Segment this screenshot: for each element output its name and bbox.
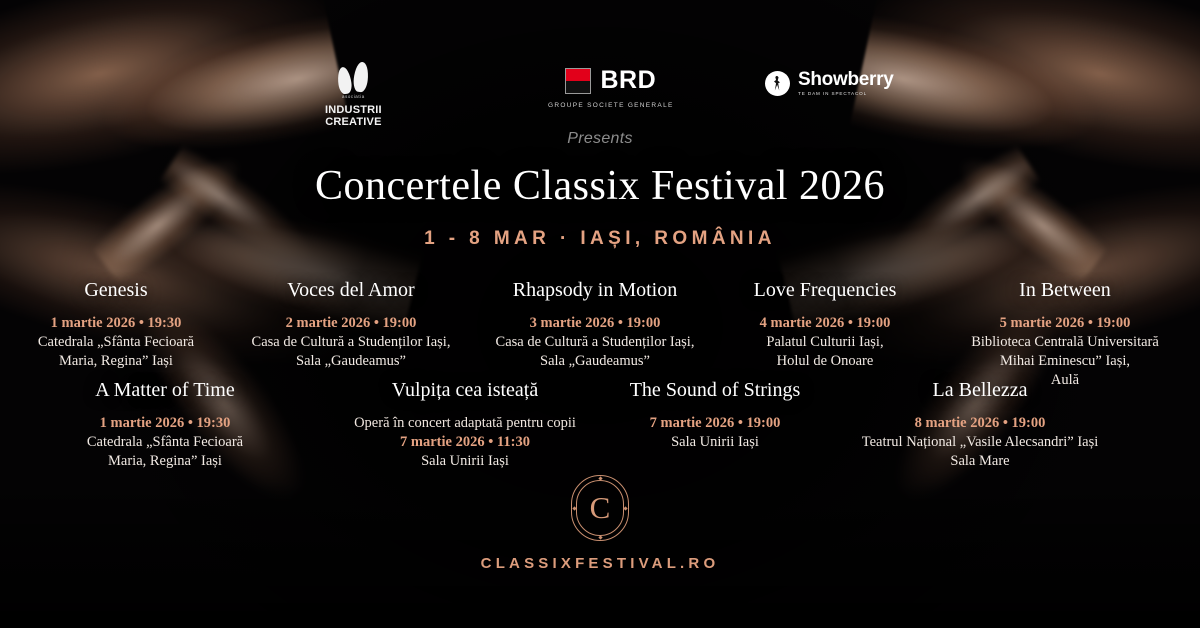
event-card: La Bellezza 8 martie 2026 • 19:00 Teatru… [830,378,1130,471]
event-card: Genesis 1 martie 2026 • 19:30 Catedrala … [0,278,232,390]
event-venue: Catedrala „Sfânta Fecioară Maria, Regina… [6,433,324,471]
event-card: A Matter of Time 1 martie 2026 • 19:30 C… [0,378,330,471]
event-venue: Teatrul Național „Vasile Alecsandri” Iaș… [836,433,1124,471]
event-title: Love Frequencies [726,278,924,302]
showberry-figure-icon [765,71,790,96]
sponsor-logo-industrii-creative: asociatia INDUSTRII CREATIVE [325,60,382,128]
event-venue: Sala Unirii Iași [606,433,824,452]
event-card: Vulpița cea isteață Operă în concert ada… [330,378,600,471]
event-date: 2 martie 2026 • 19:00 [238,314,464,333]
event-date: 3 martie 2026 • 19:00 [476,314,714,333]
event-venue: Casa de Cultură a Studenților Iași, Sala… [476,333,714,371]
event-card: Rhapsody in Motion 3 martie 2026 • 19:00… [470,278,720,390]
website-url[interactable]: CLASSIXFESTIVAL.RO [481,555,720,572]
event-date: 4 martie 2026 • 19:00 [726,314,924,333]
festival-poster: asociatia INDUSTRII CREATIVE BRD GROUPE … [0,0,1200,628]
brd-wordmark: BRD [600,66,656,95]
brd-tagline: GROUPE SOCIETE GENERALE [548,102,674,109]
classix-monogram-icon: C [571,475,629,541]
event-title: Vulpița cea isteață [336,378,594,402]
showberry-wordmark: Showberry [798,70,894,90]
event-date: 7 martie 2026 • 11:30 [336,433,594,452]
event-venue: Sala Unirii Iași [336,452,594,471]
event-date: 5 martie 2026 • 19:00 [936,314,1194,333]
event-description: Operă în concert adaptată pentru copii [336,414,594,433]
event-title: The Sound of Strings [606,378,824,402]
industrii-creative-line2: CREATIVE [325,117,382,129]
event-row-first: Genesis 1 martie 2026 • 19:30 Catedrala … [0,278,1200,390]
festival-dates-location: 1 - 8 MAR · IAȘI, ROMÂNIA [0,228,1200,250]
event-venue: Palatul Culturii Iași, Holul de Onoare [726,333,924,371]
showberry-tagline: TE DAM IN SPECTACOL [798,91,894,96]
footprints-icon [338,60,368,94]
event-title: Rhapsody in Motion [476,278,714,302]
sponsor-logo-showberry: Showberry TE DAM IN SPECTACOL [765,70,894,96]
event-title: La Bellezza [836,378,1124,402]
event-card: The Sound of Strings 7 martie 2026 • 19:… [600,378,830,471]
event-title: Voces del Amor [238,278,464,302]
event-title: A Matter of Time [6,378,324,402]
sponsor-logo-row: asociatia INDUSTRII CREATIVE BRD GROUPE … [0,62,1200,120]
event-venue: Casa de Cultură a Studenților Iași, Sala… [238,333,464,371]
industrii-creative-line1: INDUSTRII [325,105,382,117]
presents-label: Presents [0,130,1200,148]
event-card: Love Frequencies 4 martie 2026 • 19:00 P… [720,278,930,390]
brd-square-icon [565,68,591,94]
monogram-letter: C [571,475,629,541]
event-title: In Between [936,278,1194,302]
event-row-second: A Matter of Time 1 martie 2026 • 19:30 C… [0,378,1200,471]
event-date: 1 martie 2026 • 19:30 [6,314,226,333]
event-date: 1 martie 2026 • 19:30 [6,414,324,433]
page-title: Concertele Classix Festival 2026 [0,162,1200,210]
event-title: Genesis [6,278,226,302]
event-card: Voces del Amor 2 martie 2026 • 19:00 Cas… [232,278,470,390]
industrii-creative-prefix: asociatia [342,94,365,99]
sponsor-logo-brd: BRD GROUPE SOCIETE GENERALE [548,66,674,109]
event-venue: Catedrala „Sfânta Fecioară Maria, Regina… [6,333,226,371]
event-date: 7 martie 2026 • 19:00 [606,414,824,433]
event-date: 8 martie 2026 • 19:00 [836,414,1124,433]
event-card: In Between 5 martie 2026 • 19:00 Bibliot… [930,278,1200,390]
poster-footer: C CLASSIXFESTIVAL.RO [0,475,1200,572]
